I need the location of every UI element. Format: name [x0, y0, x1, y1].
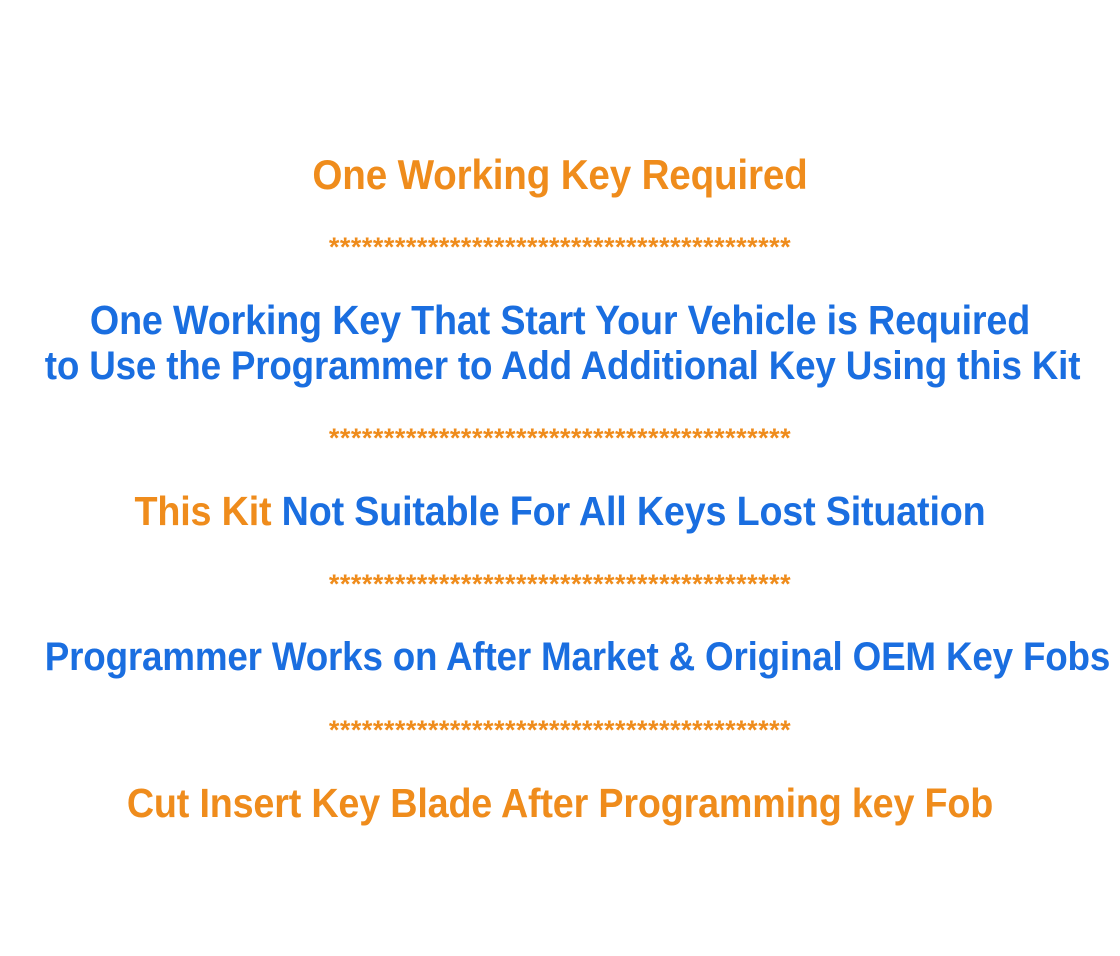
requirement-line-2: to Use the Programmer to Add Additional … [45, 343, 1075, 389]
asterisk-divider-2: ****************************************… [0, 425, 1120, 452]
asterisk-divider-3: ****************************************… [0, 571, 1120, 598]
requirement-line-1: One Working Key That Start Your Vehicle … [45, 297, 1075, 343]
kit-notice-prefix: This Kit [135, 488, 282, 534]
asterisk-divider-1: ****************************************… [0, 234, 1120, 261]
kit-notice-rest: Not Suitable For All Keys Lost Situation [282, 488, 986, 534]
poster-title: One Working Key Required [45, 152, 1075, 198]
compatibility-line: Programmer Works on After Market & Origi… [45, 634, 1075, 680]
asterisk-divider-4: ****************************************… [0, 717, 1120, 744]
key-programming-notice-poster: One Working Key Required ***************… [0, 0, 1120, 956]
kit-notice-line: This Kit Not Suitable For All Keys Lost … [45, 488, 1075, 534]
instruction-line: Cut Insert Key Blade After Programming k… [45, 780, 1075, 826]
